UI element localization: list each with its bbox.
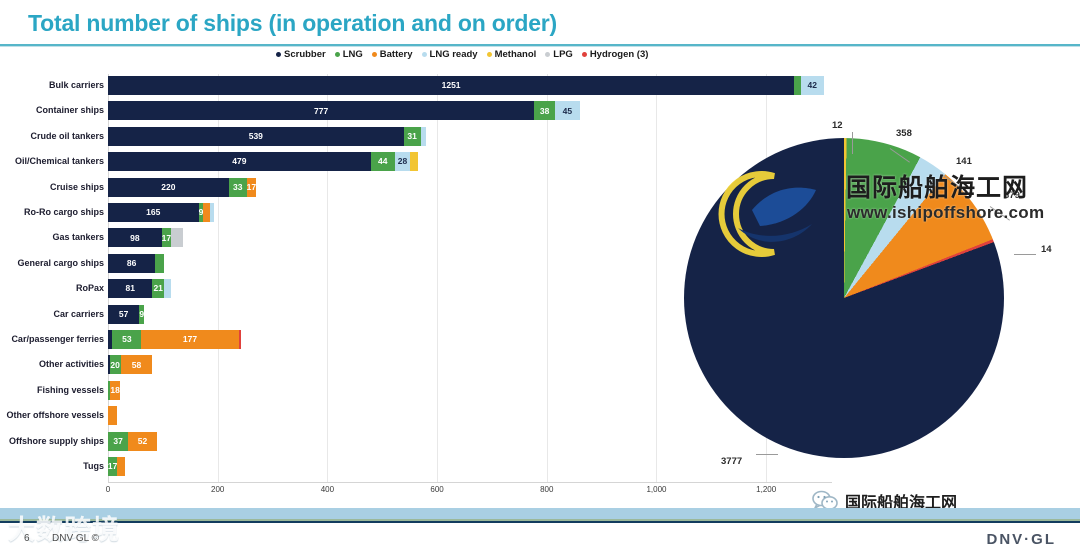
legend-label: Scrubber: [284, 49, 326, 60]
bar-segment-value: 81: [125, 284, 134, 293]
x-tick-label: 800: [540, 485, 553, 494]
bar-segment-value: 9: [139, 310, 144, 319]
legend-label: Methanol: [495, 49, 537, 60]
bar-track: 1659: [108, 203, 214, 222]
bar-segment[interactable]: 44: [371, 152, 395, 171]
bar-category-label: Other offshore vessels: [6, 410, 104, 420]
bar-segment[interactable]: 539: [108, 127, 404, 146]
bar-segment-value: 18: [110, 386, 119, 395]
legend-label: Battery: [380, 49, 413, 60]
legend-swatch-icon: [582, 52, 587, 57]
bar-segment-value: 17: [162, 234, 171, 243]
legend-item-battery: Battery: [372, 49, 413, 60]
bar-track: 3752: [108, 432, 157, 451]
bar-track: 53177: [108, 330, 241, 349]
bar-category-label: General cargo ships: [17, 258, 104, 268]
bar-category-label: RoPax: [76, 283, 104, 293]
bar-segment[interactable]: 52: [128, 432, 157, 451]
pie-leader-line: [756, 454, 778, 455]
pie-leader-line: [1014, 254, 1036, 255]
legend-swatch-icon: [372, 52, 377, 57]
bar-segment[interactable]: 777: [108, 101, 534, 120]
bar-segment[interactable]: 81: [108, 279, 152, 298]
bar-segment-value: 44: [378, 157, 387, 166]
bar-segment-value: 28: [398, 157, 407, 166]
legend-swatch-icon: [545, 52, 550, 57]
bar-segment[interactable]: 17: [108, 457, 117, 476]
bar-segment[interactable]: 98: [108, 228, 162, 247]
bar-track: 18: [108, 381, 120, 400]
pie-slice-label: 358: [896, 128, 912, 139]
bar-category-label: Other activities: [39, 359, 104, 369]
legend-label: LNG ready: [430, 49, 478, 60]
x-axis-baseline: [108, 482, 832, 483]
bar-segment-value: 20: [110, 361, 119, 370]
bar-track: 2203317: [108, 178, 256, 197]
bar-category-label: Crude oil tankers: [30, 131, 104, 141]
bar-category-label: Ro-Ro cargo ships: [24, 207, 104, 217]
bar-segment[interactable]: [155, 254, 164, 273]
bar-segment-value: 177: [183, 335, 197, 344]
bar-row[interactable]: Container ships7773845: [0, 97, 840, 123]
bar-segment[interactable]: 57: [108, 305, 139, 324]
bar-segment-value: 31: [407, 132, 416, 141]
bar-segment[interactable]: [410, 152, 418, 171]
pie-slice-label: 12: [832, 120, 843, 131]
bar-track: 9817: [108, 228, 183, 247]
bar-track: 2058: [108, 355, 152, 374]
bar-track: 125142: [108, 76, 824, 95]
bar-segment[interactable]: [117, 457, 125, 476]
bar-segment[interactable]: [171, 228, 183, 247]
bar-segment[interactable]: 42: [801, 76, 824, 95]
legend-item-lpg: LPG: [545, 49, 573, 60]
bar-category-label: Bulk carriers: [49, 80, 104, 90]
bar-segment-value: 539: [249, 132, 263, 141]
legend-label: Hydrogen (3): [590, 49, 649, 60]
bar-segment[interactable]: 1251: [108, 76, 794, 95]
dnv-gl-logo: DNV·GL: [987, 531, 1057, 548]
bar-segment-value: 165: [146, 208, 160, 217]
bar-track: 4794428: [108, 152, 418, 171]
bar-segment[interactable]: [108, 406, 117, 425]
bar-segment[interactable]: 28: [395, 152, 410, 171]
bar-category-label: Fishing vessels: [37, 385, 104, 395]
bar-segment-value: 42: [808, 81, 817, 90]
bar-segment[interactable]: 53: [112, 330, 141, 349]
x-tick-label: 1,200: [756, 485, 776, 494]
bar-track: 579: [108, 305, 144, 324]
bar-category-label: Car carriers: [53, 309, 104, 319]
bar-track: 7773845: [108, 101, 580, 120]
footer-brand-text: DNV GL ©: [52, 533, 99, 544]
bar-row[interactable]: Bulk carriers125142: [0, 72, 840, 98]
page-title: Total number of ships (in operation and …: [28, 10, 557, 37]
bar-segment[interactable]: [421, 127, 426, 146]
legend-swatch-icon: [335, 52, 340, 57]
legend-item-methanol: Methanol: [487, 49, 537, 60]
bar-segment[interactable]: 33: [229, 178, 247, 197]
bar-track: 86: [108, 254, 164, 273]
bar-segment[interactable]: 18: [110, 381, 120, 400]
bar-segment-value: 33: [233, 183, 242, 192]
bar-segment-value: 58: [132, 361, 141, 370]
legend-swatch-icon: [276, 52, 281, 57]
bar-segment-value: 52: [138, 437, 147, 446]
bar-segment-value: 45: [563, 107, 572, 116]
bar-segment[interactable]: 9: [139, 305, 144, 324]
bar-category-label: Gas tankers: [52, 232, 104, 242]
title-divider-soft: [0, 46, 1080, 47]
bar-category-label: Offshore supply ships: [9, 436, 104, 446]
watermark-chinese-text: 国际船舶海工网: [846, 168, 1028, 204]
legend-item-hydrogen-3: Hydrogen (3): [582, 49, 649, 60]
bar-segment[interactable]: 38: [534, 101, 555, 120]
bar-segment-value: 220: [161, 183, 175, 192]
x-tick-label: 200: [211, 485, 224, 494]
bar-segment-value: 57: [119, 310, 128, 319]
bar-segment[interactable]: 165: [108, 203, 199, 222]
bar-segment[interactable]: [203, 203, 210, 222]
bar-segment-value: 777: [314, 107, 328, 116]
pie-leader-line: [852, 132, 853, 154]
chart-legend: ScrubberLNGBatteryLNG readyMethanolLPGHy…: [276, 49, 648, 60]
bar-segment-value: 37: [113, 437, 122, 446]
bar-track: 17: [108, 457, 125, 476]
watermark-url: www.ishipoffshore.com: [847, 203, 1044, 223]
page-number: 6: [24, 533, 30, 544]
bar-segment-value: 1251: [442, 81, 461, 90]
bar-segment[interactable]: 37: [108, 432, 128, 451]
bar-segment[interactable]: 86: [108, 254, 155, 273]
legend-label: LPG: [553, 49, 573, 60]
bar-segment-value: 53: [122, 335, 131, 344]
legend-item-lng: LNG: [335, 49, 363, 60]
bar-segment[interactable]: 21: [152, 279, 164, 298]
bar-segment[interactable]: [794, 76, 801, 95]
legend-item-scrubber: Scrubber: [276, 49, 326, 60]
bar-segment[interactable]: 20: [110, 355, 121, 374]
bar-segment[interactable]: 17: [162, 228, 171, 247]
footer-white-area: [0, 523, 1080, 553]
slide-canvas: Total number of ships (in operation and …: [0, 0, 1080, 553]
x-tick-label: 600: [430, 485, 443, 494]
bar-segment-value: 479: [232, 157, 246, 166]
bar-track: [108, 406, 117, 425]
bar-segment-value: 38: [540, 107, 549, 116]
bar-segment[interactable]: 45: [555, 101, 580, 120]
bar-segment-value: 98: [130, 234, 139, 243]
bar-segment[interactable]: 479: [108, 152, 371, 171]
x-tick-label: 0: [106, 485, 110, 494]
bar-segment[interactable]: [210, 203, 214, 222]
bar-segment-value: 17: [108, 462, 117, 471]
pie-slice-label: 141: [956, 156, 972, 167]
bar-segment[interactable]: 31: [404, 127, 421, 146]
bar-segment[interactable]: [239, 330, 242, 349]
x-tick-label: 1,000: [646, 485, 666, 494]
bar-segment[interactable]: 58: [121, 355, 153, 374]
pie-slice-label: 14: [1041, 244, 1052, 255]
bar-segment[interactable]: 220: [108, 178, 229, 197]
bar-category-label: Tugs: [83, 461, 104, 471]
legend-item-lng-ready: LNG ready: [422, 49, 478, 60]
pie-slice-label: 3777: [721, 456, 742, 467]
legend-swatch-icon: [487, 52, 492, 57]
bar-segment-value: 17: [247, 183, 256, 192]
bar-segment-value: 86: [127, 259, 136, 268]
bar-segment-value: 21: [153, 284, 162, 293]
legend-label: LNG: [343, 49, 363, 60]
bar-category-label: Container ships: [36, 105, 104, 115]
bar-track: 53931: [108, 127, 426, 146]
bar-segment[interactable]: [164, 279, 171, 298]
bar-segment[interactable]: 177: [141, 330, 238, 349]
legend-swatch-icon: [422, 52, 427, 57]
bar-category-label: Car/passenger ferries: [11, 334, 104, 344]
bar-category-label: Oil/Chemical tankers: [15, 156, 104, 166]
bar-category-label: Cruise ships: [50, 182, 104, 192]
bar-segment[interactable]: 17: [247, 178, 256, 197]
x-tick-label: 400: [321, 485, 334, 494]
bar-track: 8121: [108, 279, 171, 298]
